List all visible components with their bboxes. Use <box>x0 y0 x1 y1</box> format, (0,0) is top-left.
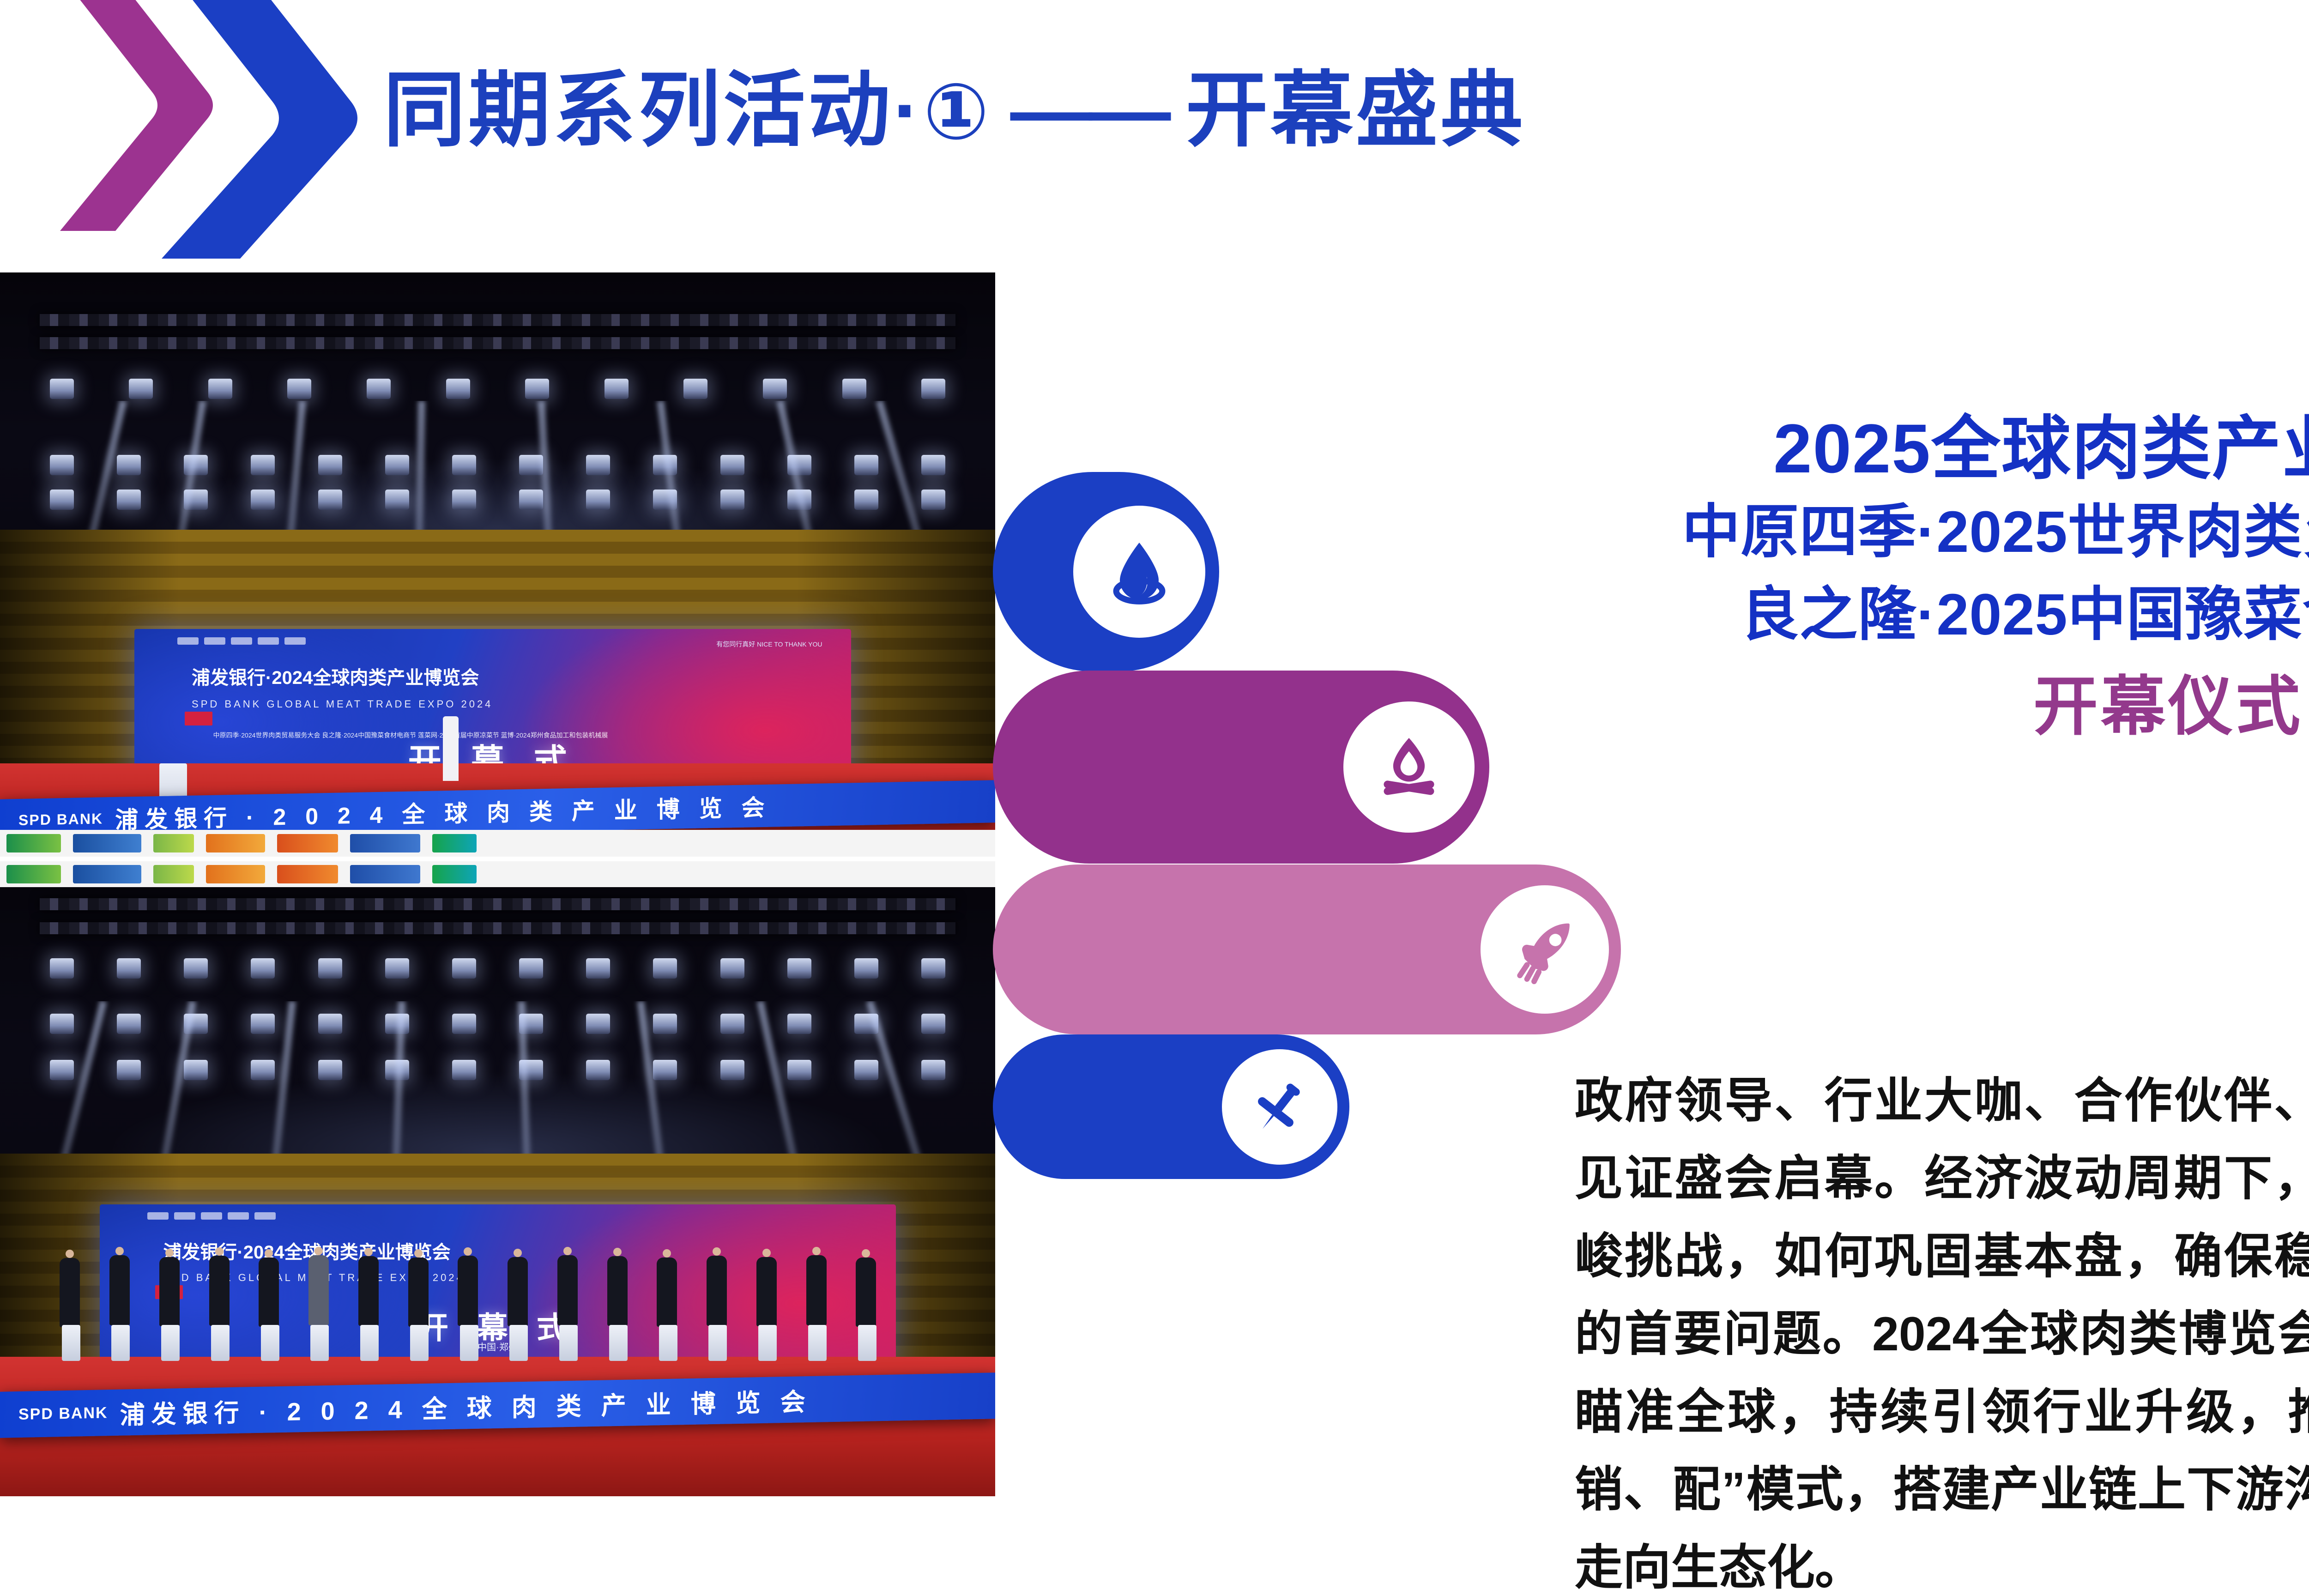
water-drop-icon <box>1100 533 1178 611</box>
page-title: 同期系列活动·①——开幕盛典 <box>383 69 1526 151</box>
page-title-main: 同期系列活动 <box>383 64 893 156</box>
pushpin-icon <box>1245 1073 1314 1141</box>
event-description-paragraph: 政府领导、行业大咖、合作伙伴、海内外嘉宾齐聚一堂，见证盛会启幕。经济波动周期下，… <box>1575 1062 2309 1596</box>
page-title-dot: · <box>893 64 923 156</box>
double-chevron-logo <box>55 0 406 259</box>
campfire-icon <box>1370 728 1448 806</box>
page-title-index: ① <box>923 68 991 155</box>
front-banner-en: SPD BANK <box>18 810 103 828</box>
page-title-dash: —— <box>1010 64 1167 156</box>
pill-campfire[interactable] <box>993 671 1489 864</box>
event-title-block: 2025全球肉类产业博览会 中原四季·2025世界肉类贸易服务大会 良之隆·20… <box>1538 406 2309 756</box>
chevron-shapes <box>55 0 406 259</box>
campfire-badge <box>1343 701 1475 833</box>
pill-water-drop[interactable] <box>993 472 1219 671</box>
event-title-line-4: 开幕仪式 <box>1538 656 2309 756</box>
pill-pushpin[interactable] <box>993 1034 1349 1179</box>
opening-ceremony-stage-photo: 浦发银行·2024全球肉类产业博览会 SPD BANK GLOBAL MEAT … <box>0 272 995 857</box>
stage-screen-thanks: 有您同行真好 NICE TO THANK YOU <box>716 641 822 649</box>
event-title-line-2: 中原四季·2025世界肉类贸易服务大会 <box>1538 491 2309 574</box>
opening-ceremony-guests-photo: 浦发银行·2024全球肉类产业博览会 SPD BANK GLOBAL MEAT … <box>0 861 995 1496</box>
front-banner-en-2: SPD BANK <box>18 1403 108 1423</box>
rocket-badge <box>1481 885 1609 1014</box>
sponsor-strip-2 <box>0 861 995 887</box>
chevron-back-purple <box>60 0 213 231</box>
water-drop-badge <box>1073 506 1205 638</box>
event-title-line-3: 良之隆·2025中国豫菜食材电商节 <box>1538 574 2309 656</box>
stage-screen-brand-en: SPD BANK GLOBAL MEAT TRADE EXPO 2024 <box>192 698 493 710</box>
page-title-sub: 开幕盛典 <box>1186 64 1526 156</box>
rocket-icon <box>1507 912 1583 987</box>
stage-screen-brand: 浦发银行·2024全球肉类产业博览会 <box>192 663 479 689</box>
pushpin-badge <box>1222 1049 1337 1165</box>
event-title-line-1: 2025全球肉类产业博览会 <box>1538 406 2309 491</box>
sponsor-strip <box>0 830 995 857</box>
front-banner-cn: 浦发银行 · 2 0 2 4 全 球 肉 类 产 业 博 览 会 <box>115 789 771 834</box>
stage-screen-brand-2: 浦发银行·2024全球肉类产业博览会 <box>163 1237 450 1264</box>
pill-rocket[interactable] <box>993 864 1621 1034</box>
front-banner-cn-2: 浦发银行 · 2 0 2 4 全 球 肉 类 产 业 博 览 会 <box>120 1381 812 1431</box>
slide-canvas: 同期系列活动·①——开幕盛典 <box>0 0 2309 1596</box>
